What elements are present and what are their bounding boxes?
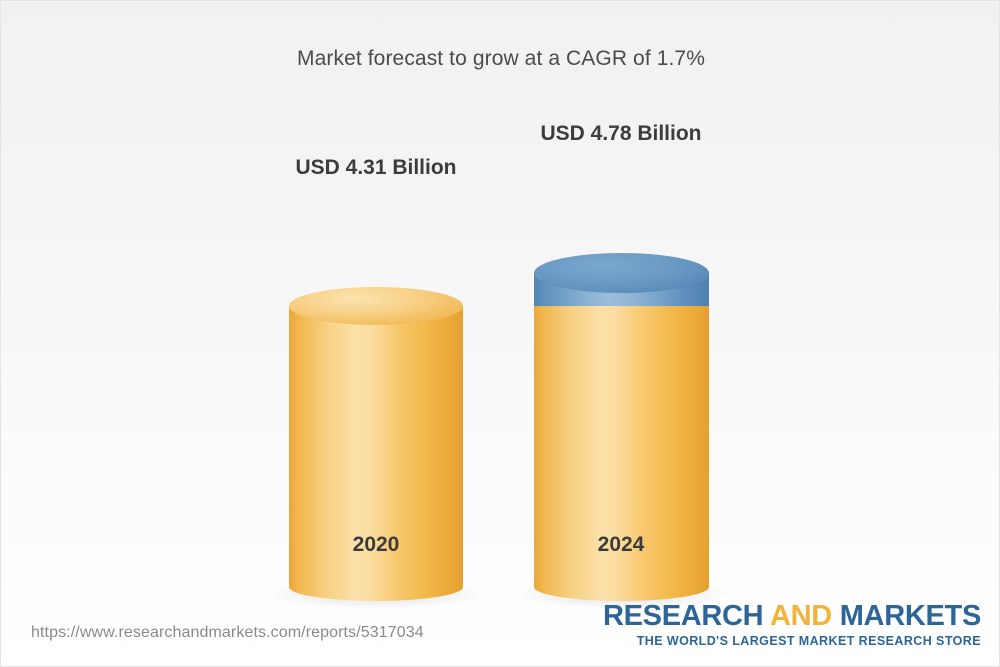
plot-area: USD 4.31 Billion 2020 USD 4.78 Billion 2…	[1, 1, 1000, 601]
logo-word-and: AND	[770, 600, 832, 632]
bar-top-cap-2020	[289, 287, 463, 325]
category-label-2020: 2020	[286, 533, 466, 557]
category-label-2024: 2024	[531, 533, 711, 557]
logo-wordmark: RESEARCH AND MARKETS	[603, 601, 981, 631]
logo-tagline: THE WORLD'S LARGEST MARKET RESEARCH STOR…	[603, 634, 981, 648]
logo-word-research: RESEARCH	[603, 600, 763, 632]
bar-top-cap-2024	[534, 253, 709, 293]
chart-container: Market forecast to grow at a CAGR of 1.7…	[0, 0, 1000, 667]
brand-logo[interactable]: RESEARCH AND MARKETS THE WORLD'S LARGEST…	[603, 601, 981, 648]
logo-word-markets: MARKETS	[840, 600, 981, 632]
bar-value-label-2024: USD 4.78 Billion	[531, 122, 711, 146]
bar-value-label-2020: USD 4.31 Billion	[286, 156, 466, 180]
source-url[interactable]: https://www.researchandmarkets.com/repor…	[31, 624, 424, 642]
